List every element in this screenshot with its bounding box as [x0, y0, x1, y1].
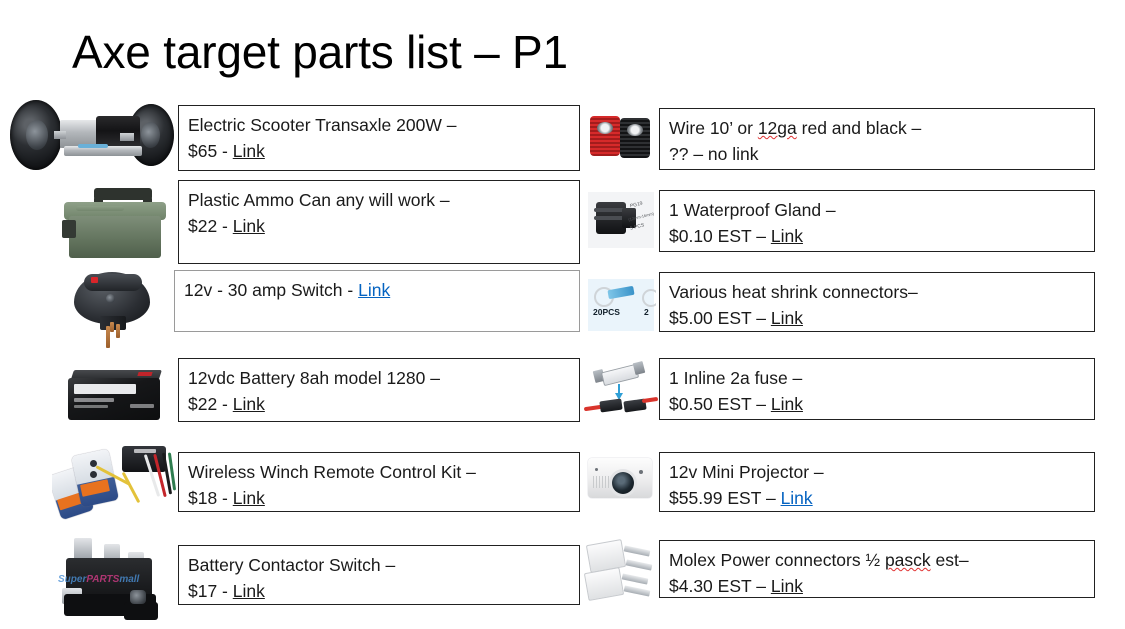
- link-contactor[interactable]: Link: [233, 581, 265, 601]
- link-ammo-can[interactable]: Link: [233, 216, 265, 236]
- parts-text-wire: Wire 10’ or 12ga red and black –?? – no …: [669, 115, 1090, 167]
- parts-box-switch[interactable]: 12v - 30 amp Switch - Link: [174, 270, 580, 332]
- parts-box-heat-shrink[interactable]: Various heat shrink connectors–$5.00 EST…: [659, 272, 1095, 332]
- molex-power-connectors-image: [582, 532, 664, 614]
- parts-box-projector[interactable]: 12v Mini Projector –$55.99 EST – Link: [659, 452, 1095, 512]
- parts-box-contactor[interactable]: Battery Contactor Switch –$17 - Link: [178, 545, 580, 605]
- sealed-lead-acid-battery-image: [58, 358, 176, 430]
- link-battery[interactable]: Link: [233, 394, 265, 414]
- parts-text-contactor: Battery Contactor Switch –$17 - Link: [188, 552, 575, 604]
- parts-text-projector: 12v Mini Projector –$55.99 EST – Link: [669, 459, 1090, 511]
- link-switch[interactable]: Link: [358, 280, 390, 300]
- spellcheck-word-pasck: pasck: [885, 550, 931, 570]
- link-gland[interactable]: Link: [771, 226, 803, 246]
- parts-text-molex: Molex Power connectors ½ pasck est–$4.30…: [669, 547, 1090, 599]
- parts-box-transaxle[interactable]: Electric Scooter Transaxle 200W –$65 - L…: [178, 105, 580, 171]
- heat-shrink-connectors-image: 20PCS 2: [586, 277, 656, 339]
- rocker-switch-image: [50, 266, 174, 352]
- parts-box-fuse[interactable]: 1 Inline 2a fuse –$0.50 EST – Link: [659, 358, 1095, 420]
- battery-contactor-switch-image: SuperPARTSmall: [52, 532, 178, 627]
- link-heat-shrink[interactable]: Link: [771, 308, 803, 328]
- parts-text-switch: 12v - 30 amp Switch - Link: [184, 277, 575, 303]
- heatshrink-qty-label: 20PCS: [593, 307, 620, 317]
- parts-box-remote-kit[interactable]: Wireless Winch Remote Control Kit –$18 -…: [178, 452, 580, 512]
- link-fuse[interactable]: Link: [771, 394, 803, 414]
- wireless-winch-remote-kit-image: [52, 442, 178, 530]
- spellcheck-word-12ga: 12ga: [758, 118, 797, 138]
- link-projector[interactable]: Link: [781, 488, 813, 508]
- parts-box-molex[interactable]: Molex Power connectors ½ pasck est–$4.30…: [659, 540, 1095, 598]
- parts-text-heat-shrink: Various heat shrink connectors–$5.00 EST…: [669, 279, 1090, 331]
- link-transaxle[interactable]: Link: [233, 141, 265, 161]
- waterproof-cable-gland-image: PG19 (12mm-16mm) 5 PCS: [586, 188, 656, 254]
- parts-text-ammo-can: Plastic Ammo Can any will work –$22 - Li…: [188, 187, 575, 239]
- parts-box-wire[interactable]: Wire 10’ or 12ga red and black –?? – no …: [659, 108, 1095, 170]
- wire-spools-red-black-image: [586, 104, 656, 172]
- parts-text-gland: 1 Waterproof Gland –$0.10 EST – Link: [669, 197, 1090, 249]
- parts-text-battery: 12vdc Battery 8ah model 1280 –$22 - Link: [188, 365, 575, 417]
- parts-box-ammo-can[interactable]: Plastic Ammo Can any will work –$22 - Li…: [178, 180, 580, 264]
- mini-projector-image: [582, 448, 660, 514]
- parts-text-remote-kit: Wireless Winch Remote Control Kit –$18 -…: [188, 459, 575, 511]
- slide-canvas: Axe target parts list – P1 Electric Scoo…: [0, 0, 1125, 629]
- plastic-ammo-can-image: [48, 184, 174, 262]
- page-title: Axe target parts list – P1: [72, 25, 568, 79]
- inline-fuse-image: [582, 358, 658, 428]
- parts-box-gland[interactable]: 1 Waterproof Gland –$0.10 EST – Link: [659, 190, 1095, 252]
- parts-box-battery[interactable]: 12vdc Battery 8ah model 1280 –$22 - Link: [178, 358, 580, 422]
- electric-scooter-transaxle-image: [8, 96, 176, 176]
- link-molex[interactable]: Link: [771, 576, 803, 596]
- parts-text-fuse: 1 Inline 2a fuse –$0.50 EST – Link: [669, 365, 1090, 417]
- parts-text-transaxle: Electric Scooter Transaxle 200W –$65 - L…: [188, 112, 575, 164]
- link-remote-kit[interactable]: Link: [233, 488, 265, 508]
